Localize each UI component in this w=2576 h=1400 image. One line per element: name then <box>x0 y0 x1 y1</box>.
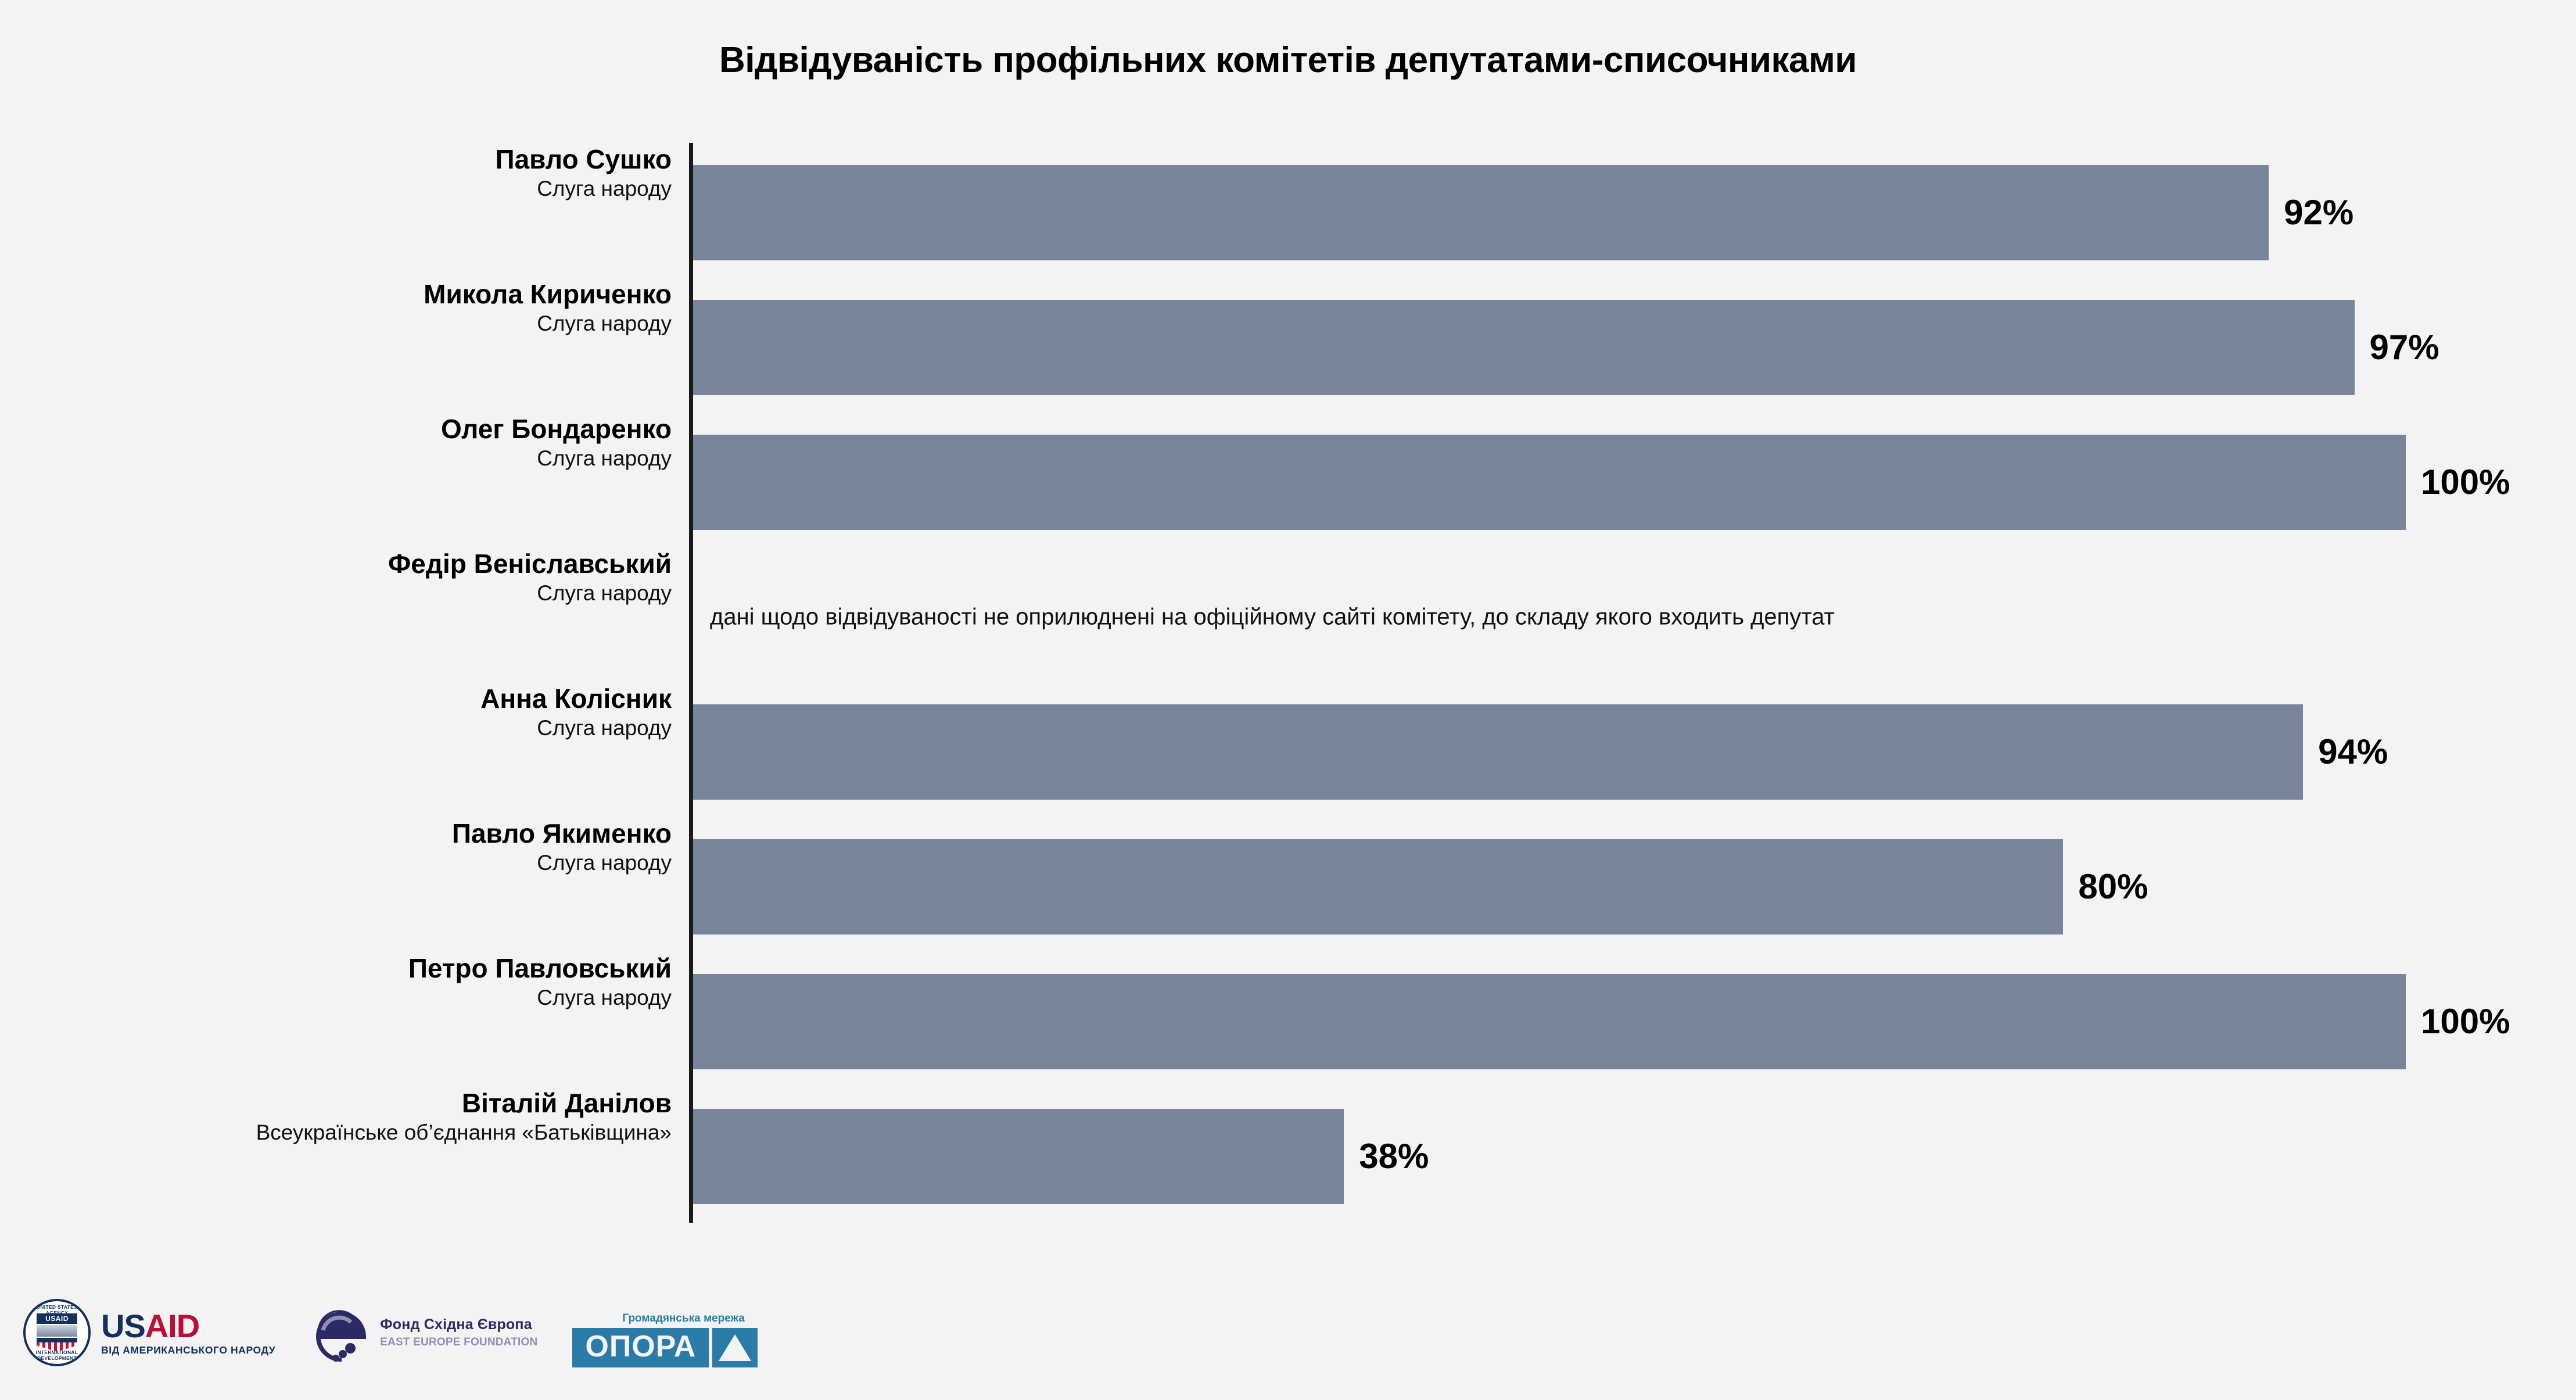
row-label-group: Павло ЯкименкоСлуга народу <box>9 819 677 875</box>
bar-value-label: 94% <box>2318 735 2388 769</box>
east-europe-foundation-logo: Фонд Східна Європа EAST EUROPE FOUNDATIO… <box>310 1298 537 1367</box>
usaid-word-aid: AID <box>145 1308 199 1344</box>
opora-tagline: Громадянська мережа <box>622 1312 758 1325</box>
row-label-group: Петро ПавловськийСлуга народу <box>9 954 677 1009</box>
usaid-tagline: ВІД АМЕРИКАНСЬКОГО НАРОДУ <box>101 1345 275 1356</box>
deputy-name: Павло Якименко <box>9 819 672 848</box>
bar <box>693 704 2303 800</box>
bar-row: Федір ВеніславськийСлуга народудані щодо… <box>0 550 2576 685</box>
bar-container: 92% <box>693 165 2269 260</box>
bar <box>693 300 2355 395</box>
deputy-name: Олег Бондаренко <box>9 415 672 444</box>
usaid-seal-badge: USAID <box>37 1313 77 1324</box>
bar-row: Анна КолісникСлуга народу94% <box>0 685 2576 819</box>
deputy-party: Слуга народу <box>9 581 672 605</box>
bar <box>693 165 2269 260</box>
opora-logo: Громадянська мережа ОПОРА <box>572 1294 758 1367</box>
eef-wordmark: Фонд Східна Європа EAST EUROPE FOUNDATIO… <box>380 1317 537 1348</box>
deputy-name: Павло Сушко <box>9 145 672 174</box>
row-label-group: Микола КириченкоСлуга народу <box>9 280 677 335</box>
bar-container: 97% <box>693 300 2355 395</box>
usaid-wordmark: USAID ВІД АМЕРИКАНСЬКОГО НАРОДУ <box>101 1310 275 1356</box>
bar-row: Павло СушкоСлуга народу92% <box>0 145 2576 280</box>
bar-value-label: 100% <box>2421 1004 2510 1039</box>
handshake-icon <box>37 1325 77 1337</box>
deputy-party: Слуга народу <box>9 851 672 875</box>
opora-wordmark-box: ОПОРА <box>572 1328 709 1367</box>
bar-value-label: 97% <box>2370 330 2439 365</box>
deputy-name: Федір Веніславський <box>9 550 672 579</box>
bar-container: 94% <box>693 704 2303 800</box>
usaid-logo: UNITED STATES AGENCY USAID INTERNATIONAL… <box>23 1298 275 1367</box>
row-label-group: Віталій ДаніловВсеукраїнське об’єднання … <box>9 1089 677 1144</box>
opora-name: ОПОРА <box>585 1331 696 1362</box>
deputy-name: Петро Павловський <box>9 954 672 983</box>
bar-container: 100% <box>693 435 2406 530</box>
bar-container: 80% <box>693 839 2063 934</box>
deputy-name: Микола Кириченко <box>9 280 672 309</box>
bar <box>693 1109 1344 1204</box>
plot-area: Павло СушкоСлуга народу92%Микола Киричен… <box>0 0 2576 1400</box>
eef-name-uk: Фонд Східна Європа <box>380 1317 537 1332</box>
bar <box>693 974 2406 1069</box>
footer-logos: UNITED STATES AGENCY USAID INTERNATIONAL… <box>23 1280 758 1367</box>
no-data-note: дані щодо відвідуваності не оприлюднені … <box>710 604 1835 631</box>
deputy-name: Віталій Данілов <box>9 1089 672 1118</box>
bar-value-label: 80% <box>2078 869 2148 904</box>
usaid-word-us: US <box>101 1308 145 1344</box>
usaid-seal-icon: UNITED STATES AGENCY USAID INTERNATIONAL… <box>23 1299 91 1366</box>
bar-value-label: 100% <box>2421 465 2510 500</box>
deputy-party: Слуга народу <box>9 311 672 335</box>
row-label-group: Анна КолісникСлуга народу <box>9 685 677 740</box>
eef-name-en: EAST EUROPE FOUNDATION <box>380 1337 537 1348</box>
deputy-party: Всеукраїнське об’єднання «Батьківщина» <box>9 1120 672 1144</box>
deputy-name: Анна Колісник <box>9 685 672 714</box>
bar-row: Микола КириченкоСлуга народу97% <box>0 280 2576 415</box>
bar-row: Олег БондаренкоСлуга народу100% <box>0 415 2576 550</box>
bar <box>693 839 2063 934</box>
chart-page: Відвідуваність профільних комітетів депу… <box>0 0 2576 1400</box>
deputy-party: Слуга народу <box>9 986 672 1009</box>
eef-emblem-icon <box>310 1303 372 1362</box>
bar <box>693 435 2406 530</box>
row-label-group: Павло СушкоСлуга народу <box>9 145 677 200</box>
deputy-party: Слуга народу <box>9 177 672 200</box>
bar-row: Віталій ДаніловВсеукраїнське об’єднання … <box>0 1089 2576 1224</box>
deputy-party: Слуга народу <box>9 716 672 740</box>
row-label-group: Федір ВеніславськийСлуга народу <box>9 550 677 605</box>
opora-triangle-icon <box>712 1328 758 1367</box>
bar-row: Павло ЯкименкоСлуга народу80% <box>0 819 2576 954</box>
bar-value-label: 38% <box>1359 1139 1429 1174</box>
deputy-party: Слуга народу <box>9 446 672 470</box>
row-label-group: Олег БондаренкоСлуга народу <box>9 415 677 470</box>
bar-container: 38% <box>693 1109 1344 1204</box>
bar-value-label: 92% <box>2284 195 2353 230</box>
usaid-seal-bottom-text: INTERNATIONAL DEVELOPMENT <box>26 1349 88 1361</box>
bar-container: 100% <box>693 974 2406 1069</box>
bar-row: Петро ПавловськийСлуга народу100% <box>0 954 2576 1089</box>
